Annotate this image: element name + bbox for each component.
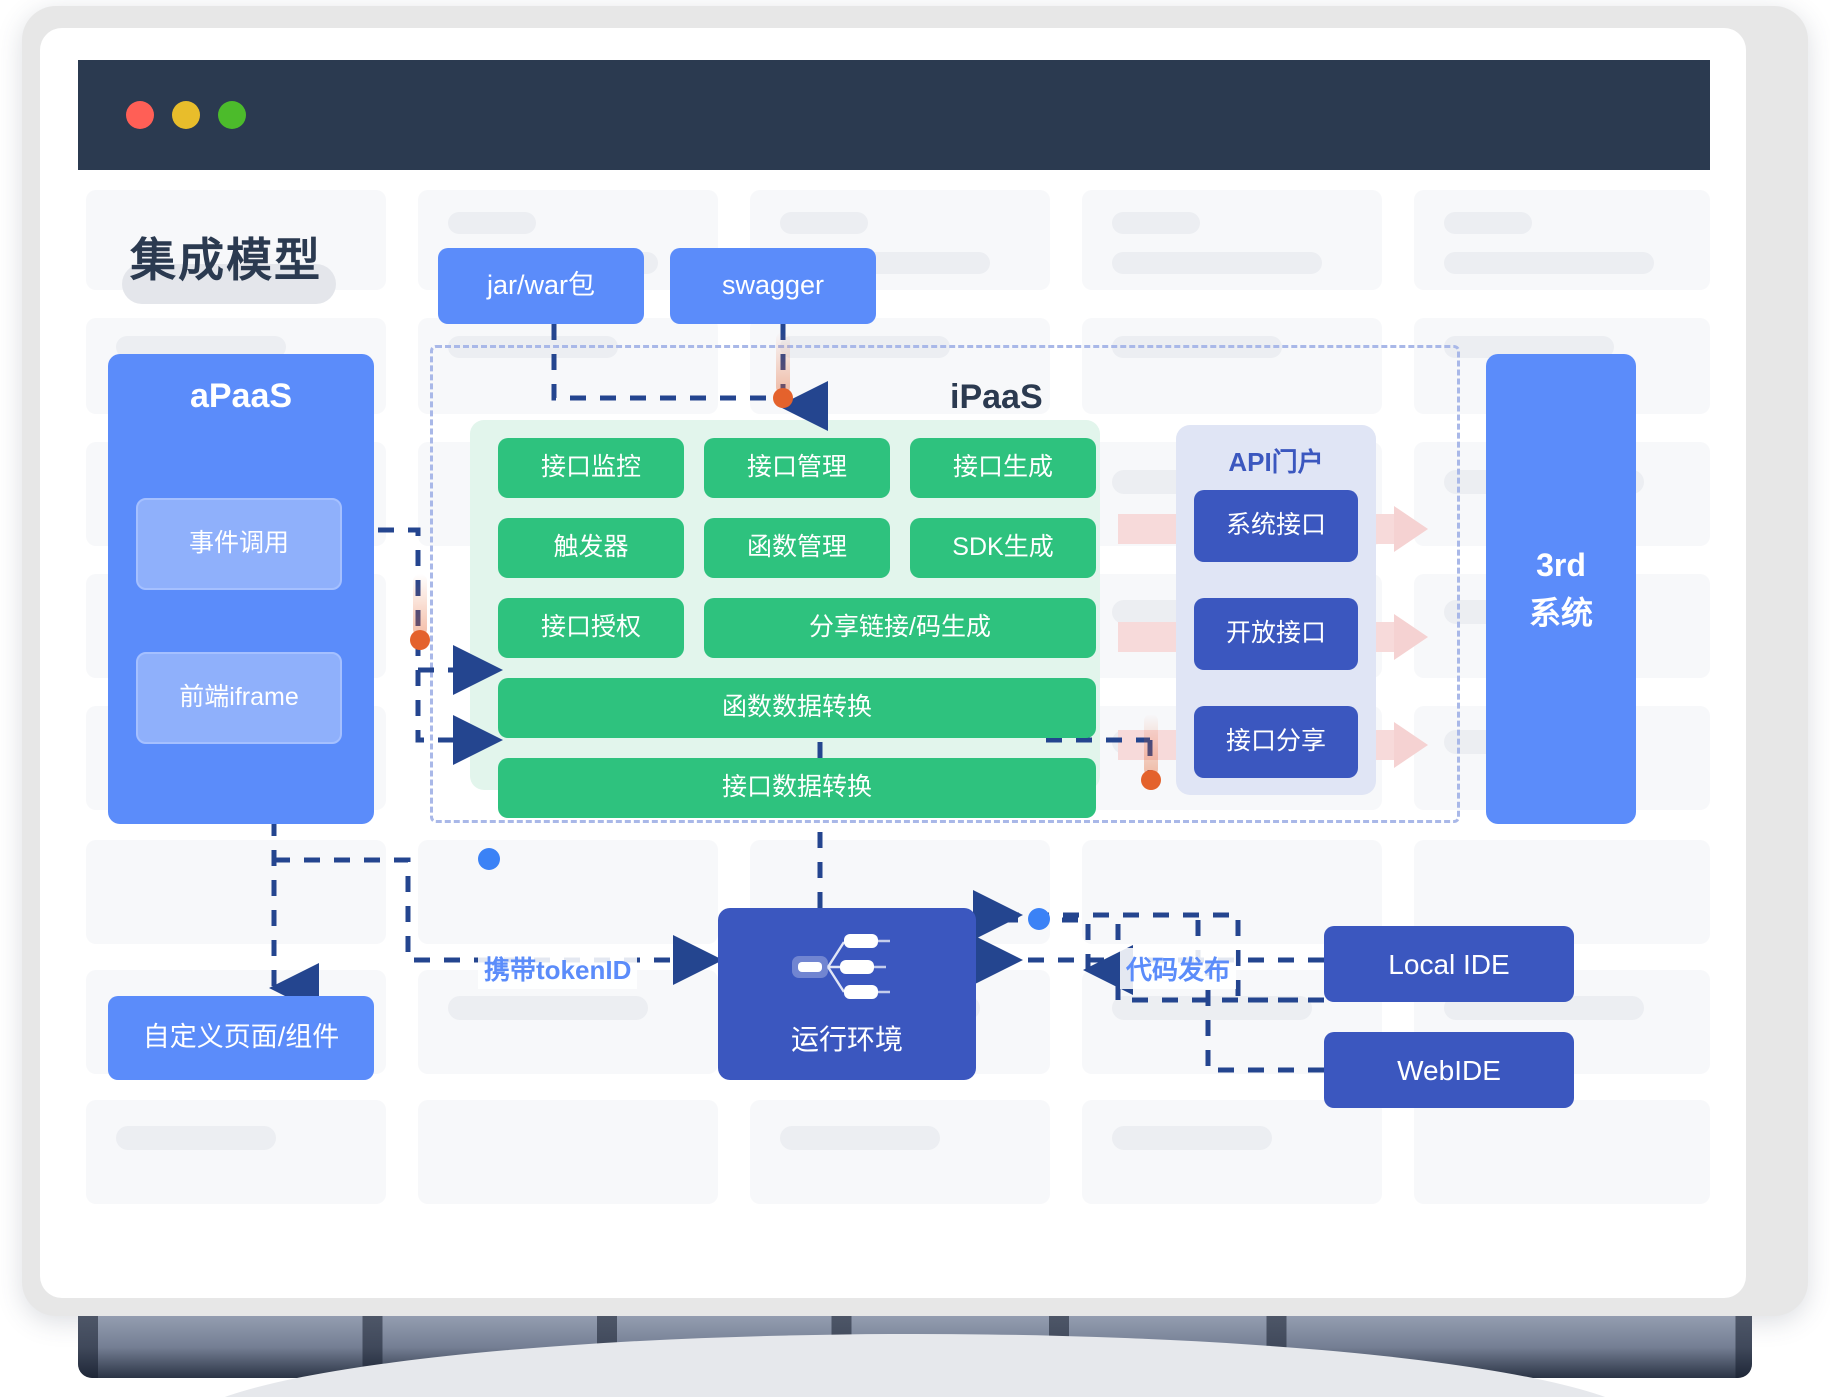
api-portal-title: API门户 <box>1176 442 1376 479</box>
ipaas-cap-api-monitor[interactable]: 接口监控 <box>498 438 684 498</box>
edge-label-publish: 代码发布 <box>1120 948 1236 989</box>
ipaas-cap-api-auth[interactable]: 接口授权 <box>498 598 684 658</box>
ipaas-cap-func-manage[interactable]: 函数管理 <box>704 518 890 578</box>
api-portal-item-api-share[interactable]: 接口分享 <box>1194 706 1358 778</box>
api-portal-item-open-api[interactable]: 开放接口 <box>1194 598 1358 670</box>
third-party-line1: 3rd <box>1536 545 1586 585</box>
ide-web[interactable]: WebIDE <box>1324 1032 1574 1108</box>
ipaas-cap-sdk-generate[interactable]: SDK生成 <box>910 518 1096 578</box>
apaas-item-front-iframe[interactable]: 前端iframe <box>136 652 342 744</box>
edge-label-token: 携带tokenID <box>478 948 637 989</box>
runtime-environment-label: 运行环境 <box>718 1016 976 1062</box>
ipaas-row-api-data-transform[interactable]: 接口数据转换 <box>498 758 1096 818</box>
diagram-canvas: 集成模型 iPaaS API门户 <box>78 170 1710 1298</box>
ipaas-cap-api-manage[interactable]: 接口管理 <box>704 438 890 498</box>
source-swagger[interactable]: swagger <box>670 248 876 324</box>
flow-dot <box>773 388 793 408</box>
node-tree-icon <box>790 930 902 1002</box>
screenshot-root: 集成模型 iPaaS API门户 <box>0 0 1830 1397</box>
ipaas-cap-trigger[interactable]: 触发器 <box>498 518 684 578</box>
third-party-line2: 系统 <box>1529 593 1593 633</box>
ipaas-cap-share-link[interactable]: 分享链接/码生成 <box>704 598 1096 658</box>
ide-local[interactable]: Local IDE <box>1324 926 1574 1002</box>
flow-dot <box>410 630 430 650</box>
api-portal-item-system-api[interactable]: 系统接口 <box>1194 490 1358 562</box>
source-jar-war[interactable]: jar/war包 <box>438 248 644 324</box>
minimize-icon[interactable] <box>172 101 200 129</box>
third-party-system[interactable]: 3rd 系统 <box>1486 354 1636 824</box>
ipaas-label: iPaaS <box>950 378 1043 417</box>
flow-dot <box>1141 770 1161 790</box>
flow-dot <box>478 848 500 870</box>
page-title: 集成模型 <box>130 224 322 290</box>
apaas-item-event-call[interactable]: 事件调用 <box>136 498 342 590</box>
custom-page-component[interactable]: 自定义页面/组件 <box>108 996 374 1080</box>
ipaas-row-func-data-transform[interactable]: 函数数据转换 <box>498 678 1096 738</box>
close-icon[interactable] <box>126 101 154 129</box>
window-titlebar <box>78 60 1710 170</box>
flow-dot <box>1028 908 1050 930</box>
ipaas-cap-api-generate[interactable]: 接口生成 <box>910 438 1096 498</box>
maximize-icon[interactable] <box>218 101 246 129</box>
apaas-title: aPaaS <box>108 366 374 426</box>
